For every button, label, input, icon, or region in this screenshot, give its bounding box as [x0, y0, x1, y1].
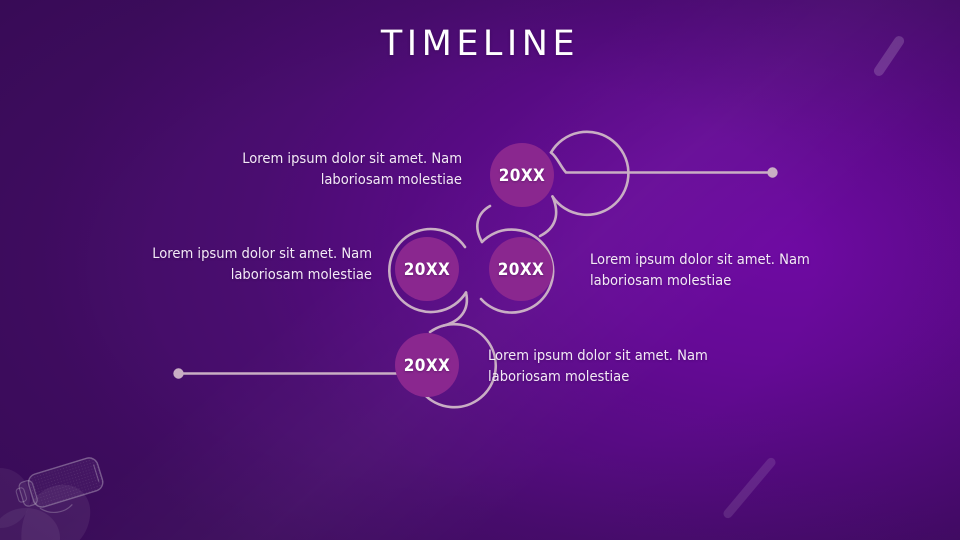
node-2-description: Lorem ipsum dolor sit amet. Nam laborios…: [110, 243, 372, 285]
node-2-year-label: 20XX: [404, 260, 450, 280]
node-3-year-label: 20XX: [498, 260, 544, 280]
timeline-slide: TIMELINE: [0, 0, 960, 540]
node-1-connector-endpoint: [767, 167, 777, 177]
node-1-ring-tail: [540, 197, 556, 237]
node-1-connector-line: [551, 153, 768, 173]
node-3-description: Lorem ipsum dolor sit amet. Nam laborios…: [590, 249, 840, 291]
node-4-connector-line: [183, 374, 423, 394]
node-1-description: Lorem ipsum dolor sit amet. Nam laborios…: [200, 148, 462, 190]
node-4-year-label: 20XX: [404, 356, 450, 376]
node-1-year-label: 20XX: [499, 166, 545, 186]
node-4-description: Lorem ipsum dolor sit amet. Nam laborios…: [488, 345, 738, 387]
node-4-connector-endpoint: [173, 368, 183, 378]
